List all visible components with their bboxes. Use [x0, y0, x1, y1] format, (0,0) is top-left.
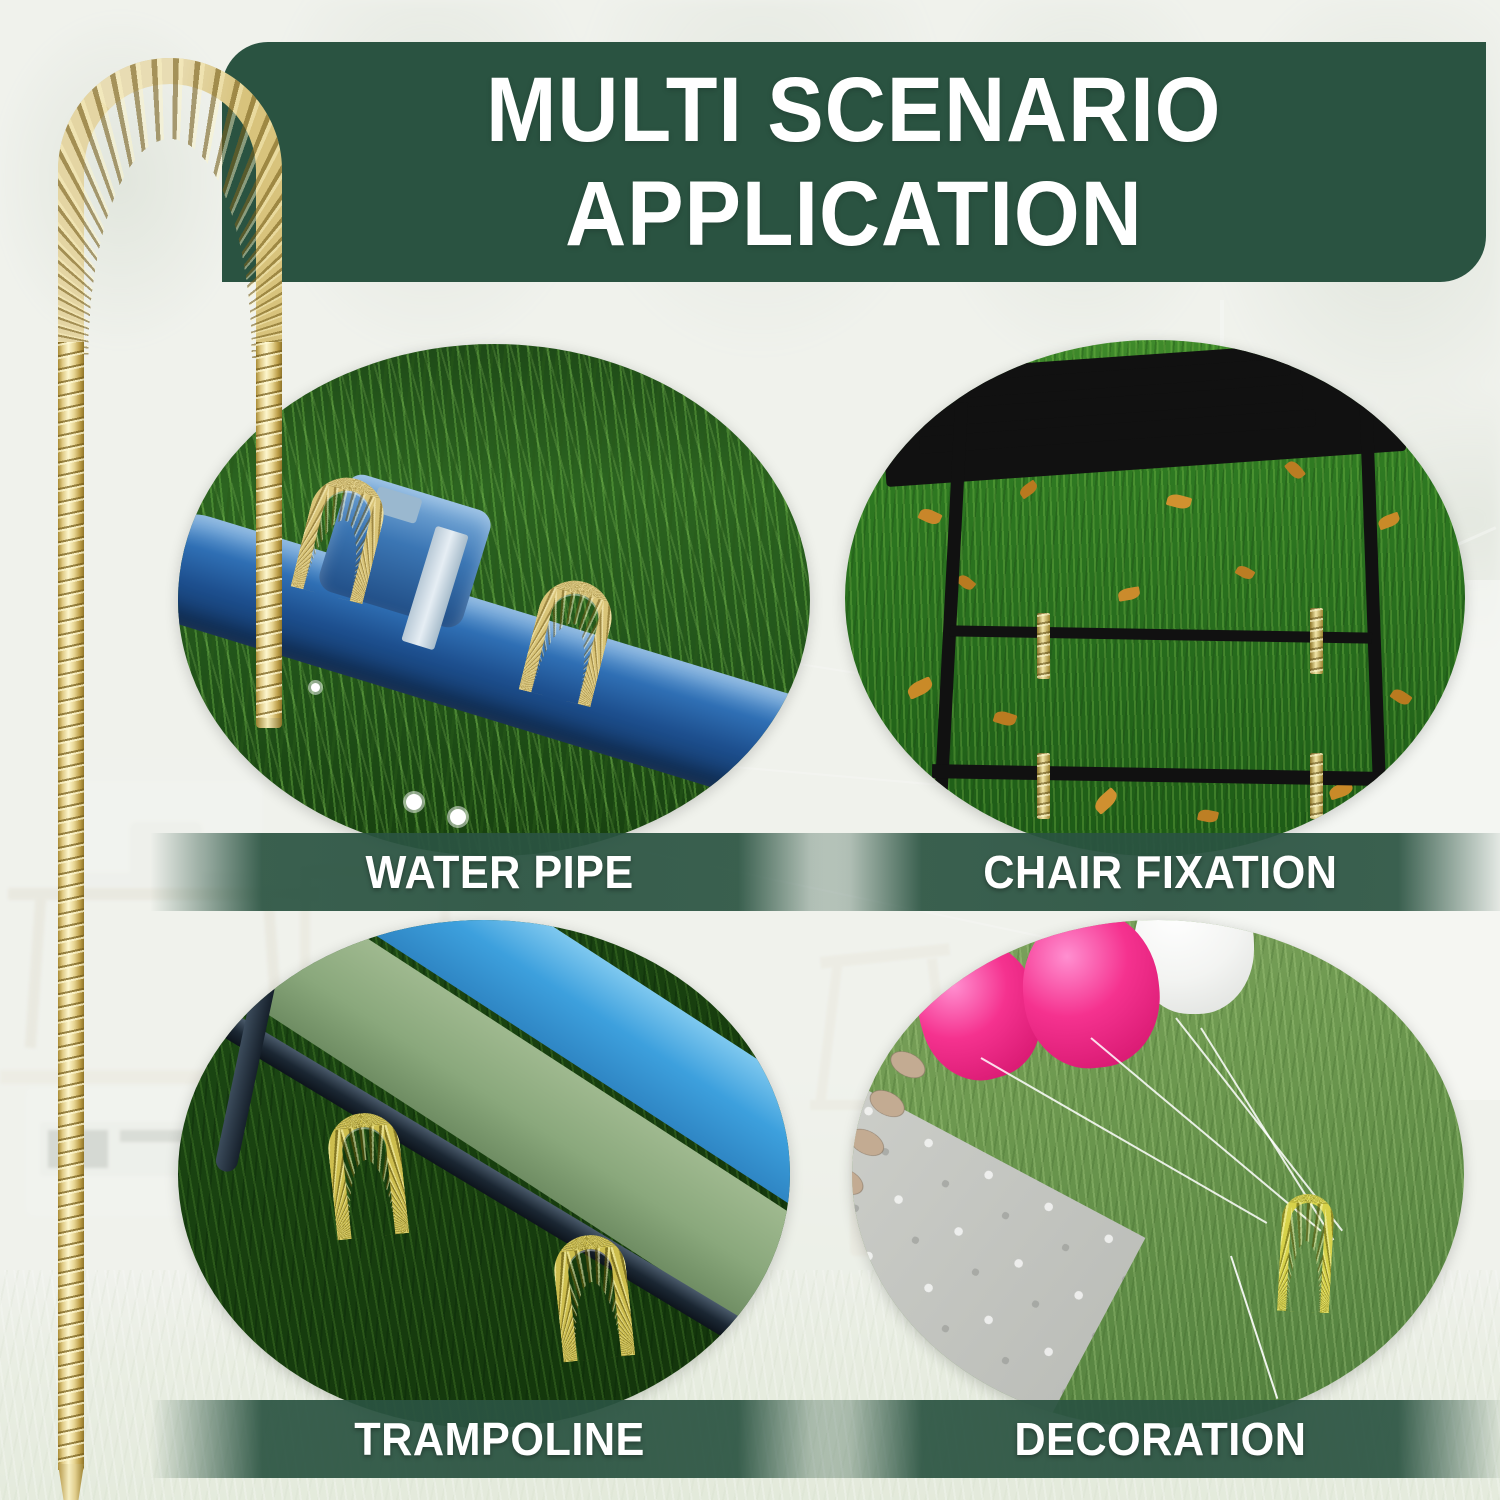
stake-short-leg-ribs: [256, 342, 282, 724]
gold-stake: [1037, 753, 1050, 819]
daisy-flower: [450, 809, 466, 825]
gold-hook-stake: [1277, 1193, 1335, 1314]
header-banner: MULTI SCENARIO APPLICATION: [222, 42, 1486, 282]
stake-short-leg-cap: [256, 718, 282, 728]
product-infographic-canvas: MULTI SCENARIO APPLICATION: [0, 0, 1500, 1500]
caption-label-water-pipe: WATER PIPE: [366, 845, 634, 899]
stake-hook-arch: [58, 58, 282, 358]
panel-photo-chair-fixation: [845, 340, 1465, 856]
banner-title-line-1: MULTI SCENARIO: [486, 64, 1221, 156]
bench-rail-upper: [950, 625, 1372, 643]
caption-label-chair-fixation: CHAIR FIXATION: [983, 845, 1337, 899]
park-bench: [845, 340, 1465, 856]
caption-label-decoration: DECORATION: [1014, 1412, 1306, 1466]
gold-stake: [1310, 753, 1323, 819]
panel-photo-decoration: [852, 920, 1464, 1428]
daisy-flower: [406, 794, 422, 810]
stake-pointed-tip: [58, 1464, 84, 1500]
gold-stake: [1037, 613, 1050, 679]
caption-label-trampoline: TRAMPOLINE: [355, 1412, 646, 1466]
banner-title-line-2: APPLICATION: [565, 168, 1143, 260]
gold-stake: [1310, 608, 1323, 674]
stake-long-leg-ribs: [58, 342, 84, 1470]
caption-band-chair-fixation: CHAIR FIXATION: [810, 833, 1500, 911]
caption-band-decoration: DECORATION: [810, 1400, 1500, 1478]
product-stake-illustration: [18, 52, 318, 1500]
